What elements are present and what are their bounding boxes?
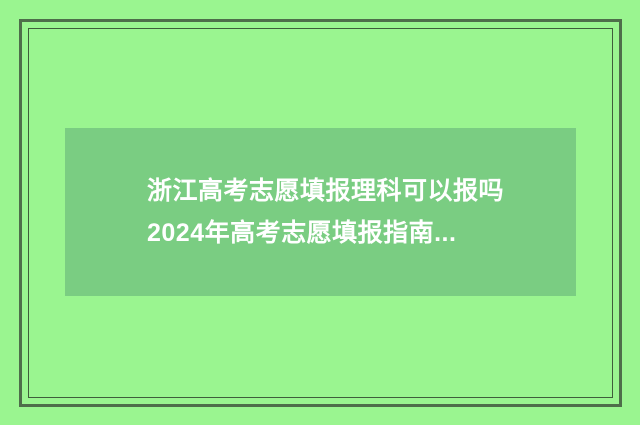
title-banner: 浙江高考志愿填报理科可以报吗 2024年高考志愿填报指南... (65, 128, 576, 296)
banner-title-line-2: 2024年高考志愿填报指南... (147, 213, 576, 253)
banner-title-line-1: 浙江高考志愿填报理科可以报吗 (147, 171, 576, 211)
thumbnail-card: 浙江高考志愿填报理科可以报吗 2024年高考志愿填报指南... (0, 0, 640, 425)
